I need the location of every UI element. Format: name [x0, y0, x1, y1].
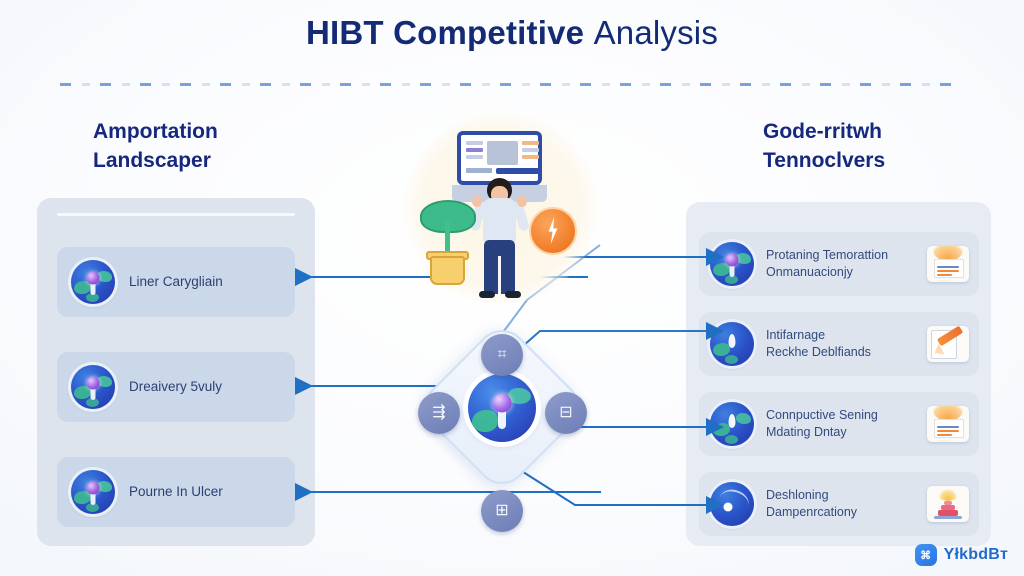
globe-pin-icon[interactable] — [468, 374, 536, 442]
page-title-light: Analysis — [594, 14, 718, 51]
globe-dot-icon — [710, 482, 754, 526]
node-glyph: ⌗ — [497, 347, 506, 363]
watermark-logo-icon: ⌘ — [915, 544, 937, 566]
person-hand-right — [517, 196, 527, 207]
plant-stem — [445, 221, 450, 253]
infographic-canvas: HIBT Competitive Analysis Amportation La… — [0, 0, 1024, 576]
list-item-label: Deshloning Dampenrcationy — [766, 487, 927, 522]
list-item[interactable]: Pourne In Ulcer — [57, 457, 295, 527]
globe-spark-icon — [710, 322, 754, 366]
globe-pin-icon — [710, 242, 754, 286]
pen-document-thumb-icon — [927, 326, 969, 362]
cake-thumb-icon — [927, 486, 969, 522]
page-title: HIBT Competitive Analysis — [0, 14, 1024, 52]
person-shoe-right — [505, 291, 521, 298]
list-item-label: Intifarnage Reckhe Deblfiands — [766, 327, 927, 362]
settings-grid-icon[interactable]: ⊞ — [481, 490, 523, 532]
sunrise-card-thumb-icon — [927, 406, 969, 442]
document-list-icon[interactable]: ⊟ — [545, 392, 587, 434]
list-item[interactable]: Connpuctive Sening Mdating Dntay — [699, 392, 979, 456]
right-column-heading: Gode-rritwh Tennoclvers — [763, 118, 885, 176]
person-legs — [484, 240, 515, 294]
plant-pot — [430, 256, 465, 285]
list-item[interactable]: Dreaivery 5vuly — [57, 352, 295, 422]
left-panel-divider — [57, 213, 295, 216]
page-title-strong: HIBT Competitive — [306, 14, 584, 51]
person-torso — [483, 198, 516, 243]
watermark-text: YłkbdBт — [944, 546, 1008, 564]
list-item[interactable]: Liner Carygliain — [57, 247, 295, 317]
person-shoe-left — [479, 291, 495, 298]
monitor-screen-icon — [457, 131, 542, 185]
node-glyph: ⇶ — [432, 405, 445, 421]
list-item[interactable]: Deshloning Dampenrcationy — [699, 472, 979, 536]
certificate-thumb-icon — [927, 246, 969, 282]
globe-pin-icon — [71, 260, 115, 304]
list-item-label: Protaning Temorattion Onmanuacionjy — [766, 247, 927, 282]
globe-pin-icon — [71, 365, 115, 409]
globe-spark-icon — [710, 402, 754, 446]
list-item[interactable]: Protaning Temorattion Onmanuacionjy — [699, 232, 979, 296]
list-item-label: Connpuctive Sening Mdating Dntay — [766, 407, 927, 442]
network-nodes-icon[interactable]: ⌗ — [481, 334, 523, 376]
person-hand-left — [472, 196, 482, 207]
list-item[interactable]: Intifarnage Reckhe Deblfiands — [699, 312, 979, 376]
left-column-heading: Amportation Landscaper — [93, 118, 218, 176]
node-glyph: ⊞ — [495, 503, 508, 519]
list-item-label: Dreaivery 5vuly — [129, 378, 222, 396]
globe-pin-icon — [71, 470, 115, 514]
list-item-label: Pourne In Ulcer — [129, 483, 223, 501]
watermark: ⌘ YłkbdBт — [915, 544, 1008, 566]
chart-flow-icon[interactable]: ⇶ — [418, 392, 460, 434]
list-item-label: Liner Carygliain — [129, 273, 223, 291]
title-dashed-divider — [60, 83, 960, 86]
node-glyph: ⊟ — [559, 405, 572, 421]
